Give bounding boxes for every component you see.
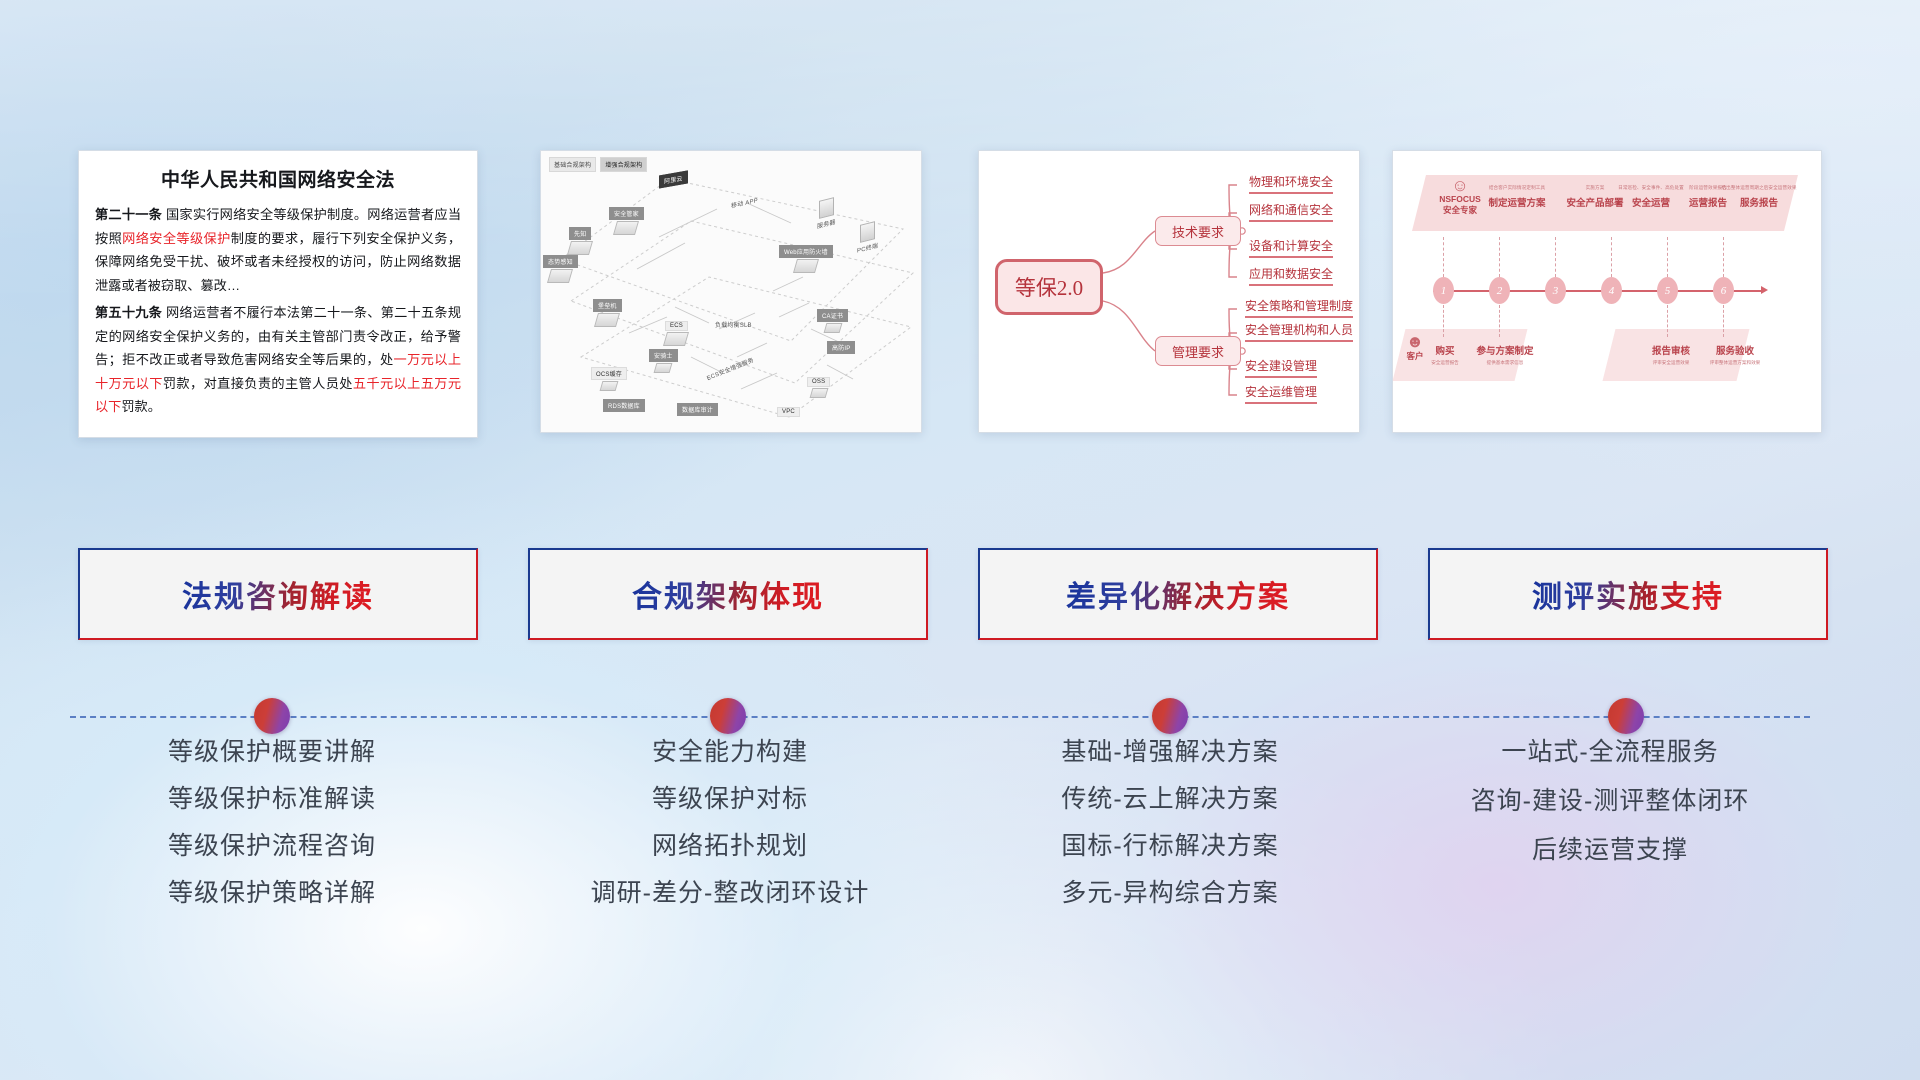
list-item: 国标-行标解决方案 (960, 834, 1380, 859)
card-cybersecurity-law: 中华人民共和国网络安全法 第二十一条 国家实行网络安全等级保护制度。网络运营者应… (78, 150, 478, 438)
arch-node-ecs: ECS (665, 321, 688, 346)
box-icon (613, 221, 639, 235)
arch-node-xianzhi: 先知 (569, 227, 591, 255)
box-icon (823, 323, 842, 333)
timeline-connector (1443, 237, 1444, 277)
list-item: 后续运营支撑 (1400, 838, 1820, 863)
box-icon (793, 259, 819, 273)
timeline-node-5: 5 (1657, 277, 1678, 304)
list-item: 一站式-全流程服务 (1400, 740, 1820, 765)
arch-node-baoleiji: 堡垒机 (593, 299, 622, 327)
article-59-part2: 罚款，对直接负责的主管人员处 (163, 376, 353, 391)
rail-marker-3 (1152, 698, 1188, 734)
title-box-assessment-support[interactable]: 测评实施支持 (1428, 548, 1828, 640)
rail-marker-2 (710, 698, 746, 734)
title-box-row: 法规咨询解读 合规架构体现 差异化解决方案 测评实施支持 (0, 548, 1920, 668)
list-item: 调研-差分-整改闭环设计 (520, 881, 940, 906)
title-label: 法规咨询解读 (182, 572, 374, 616)
architecture-diagram: 基础合规架构 增强合规架构 阿里云 安全管家 先知 态势感知 堡垒机 (541, 151, 921, 432)
arch-node-waf: Web应用防火墙 (779, 245, 833, 273)
arch-node-oss: OSS (807, 377, 830, 398)
box-icon (567, 241, 593, 255)
box-icon (654, 363, 673, 373)
arch-node-anquanguanjia: 安全管家 (609, 207, 644, 235)
mindmap: 等保2.0 技术要求 管理要求 物理和环境安全 网络和通信安全 设备和计算安全 … (979, 151, 1359, 432)
architecture-tab-basic[interactable]: 基础合规架构 (549, 157, 596, 172)
timeline-connector (1499, 237, 1500, 277)
timeline-node-2: 2 (1489, 277, 1510, 304)
list-item: 安全能力构建 (520, 740, 940, 765)
article-21-highlight: 网络安全等级保护 (122, 231, 231, 246)
list-item: 等级保护标准解读 (62, 787, 482, 812)
card-dengbao-mindmap: 等保2.0 技术要求 管理要求 物理和环境安全 网络和通信安全 设备和计算安全 … (978, 150, 1360, 433)
bullet-column-4: 一站式-全流程服务 咨询-建设-测评整体闭环 后续运营支撑 (1400, 740, 1820, 887)
mindmap-leaf-org-personnel: 安全管理机构和人员 (1245, 321, 1353, 342)
box-icon (809, 388, 828, 398)
title-box-compliance-architecture[interactable]: 合规架构体现 (528, 548, 928, 640)
mindmap-root-node: 等保2.0 (995, 259, 1103, 315)
title-label: 合规架构体现 (632, 572, 824, 616)
timeline-node-1: 1 (1433, 277, 1454, 304)
illustration-card-row: 中华人民共和国网络安全法 第二十一条 国家实行网络安全等级保护制度。网络运营者应… (0, 150, 1920, 440)
arch-node-gaofang-ip: 高防IP (827, 341, 855, 354)
timeline-node-4: 4 (1601, 277, 1622, 304)
list-item: 多元-异构综合方案 (960, 881, 1380, 906)
box-icon (594, 313, 620, 327)
bullet-column-3: 基础-增强解决方案 传统-云上解决方案 国标-行标解决方案 多元-异构综合方案 (960, 740, 1380, 928)
architecture-tab-group[interactable]: 基础合规架构 增强合规架构 (549, 157, 647, 172)
law-title: 中华人民共和国网络安全法 (95, 165, 461, 192)
list-item: 等级保护流程咨询 (62, 834, 482, 859)
list-item: 基础-增强解决方案 (960, 740, 1380, 765)
timeline-connector (1555, 237, 1556, 277)
list-item: 等级保护概要讲解 (62, 740, 482, 765)
title-label: 差异化解决方案 (1066, 572, 1290, 616)
timeline-connector (1667, 305, 1668, 337)
card-compliance-architecture: 基础合规架构 增强合规架构 阿里云 安全管家 先知 态势感知 堡垒机 (540, 150, 922, 433)
timeline-top-step-6: 给出整体运营周期之后安全运营效果 服务报告 (1699, 185, 1819, 209)
list-item: 咨询-建设-测评整体闭环 (1400, 789, 1820, 814)
timeline-node-6: 6 (1713, 277, 1734, 304)
timeline-connector (1667, 237, 1668, 277)
article-21-label: 第二十一条 (95, 207, 162, 222)
mindmap-leaf-physical-env: 物理和环境安全 (1249, 173, 1333, 194)
law-text-body: 中华人民共和国网络安全法 第二十一条 国家实行网络安全等级保护制度。网络运营者应… (79, 151, 477, 433)
timeline-connector (1723, 237, 1724, 277)
card-service-timeline: ☺ NSFOCUS 安全专家 结合客户实际情况定制工具 制定运营方案 实施方案 … (1392, 150, 1822, 433)
arch-node-rds: RDS数据库 (603, 399, 645, 412)
list-item: 传统-云上解决方案 (960, 787, 1380, 812)
title-box-differentiated-solution[interactable]: 差异化解决方案 (978, 548, 1378, 640)
timeline-connector (1499, 305, 1500, 337)
mindmap-leaf-network-comm: 网络和通信安全 (1249, 201, 1333, 222)
bullet-column-1: 等级保护概要讲解 等级保护标准解读 等级保护流程咨询 等级保护策略详解 (62, 740, 482, 928)
rail-marker-1 (254, 698, 290, 734)
arch-node-ocs-cache: OCS缓存 (591, 367, 627, 391)
timeline-connector (1723, 305, 1724, 337)
law-article-59: 第五十九条 网络运营者不履行本法第二十一条、第二十五条规定的网络安全保护义务的，… (95, 301, 461, 419)
law-article-21: 第二十一条 国家实行网络安全等级保护制度。网络运营者应当按照网络安全等级保护制度… (95, 203, 461, 297)
arch-node-vpc: VPC (777, 407, 800, 417)
timeline-connector (1443, 305, 1444, 337)
list-item: 网络拓扑规划 (520, 834, 940, 859)
timeline-connector (1611, 237, 1612, 277)
timeline-arrow-icon (1761, 286, 1768, 294)
mindmap-leaf-policy-system: 安全策略和管理制度 (1245, 297, 1353, 318)
arch-node-anqishi: 安骑士 (649, 349, 678, 373)
box-icon (600, 381, 619, 391)
mindmap-branch-management: 管理要求 (1155, 336, 1241, 366)
arch-node-ca-cert: CA证书 (817, 309, 848, 333)
arch-node-taishiganzhi: 态势感知 (543, 255, 578, 283)
timeline-bottom-step-2: 参与方案制定 提供基本需求信息 (1463, 343, 1547, 366)
article-59-label: 第五十九条 (95, 305, 162, 320)
arch-node-slb: 负载均衡SLB (711, 319, 756, 330)
mindmap-leaf-operation-mgmt: 安全运维管理 (1245, 383, 1317, 404)
box-icon (547, 269, 573, 283)
article-59-part3: 罚款。 (121, 399, 161, 414)
list-item: 等级保护对标 (520, 787, 940, 812)
title-box-regulation-consulting[interactable]: 法规咨询解读 (78, 548, 478, 640)
timeline-node-3: 3 (1545, 277, 1566, 304)
mindmap-branch-technical: 技术要求 (1155, 216, 1241, 246)
bullet-column-2: 安全能力构建 等级保护对标 网络拓扑规划 调研-差分-整改闭环设计 (520, 740, 940, 928)
box-icon (663, 332, 689, 346)
rail-marker-4 (1608, 698, 1644, 734)
timeline-bottom-step-6: 服务验收 评审整体运营方案和效果 (1693, 343, 1777, 366)
mindmap-leaf-app-data: 应用和数据安全 (1249, 265, 1333, 286)
arch-node-db-audit: 数据库审计 (677, 403, 718, 416)
mindmap-leaf-construction-mgmt: 安全建设管理 (1245, 357, 1317, 378)
service-timeline: ☺ NSFOCUS 安全专家 结合客户实际情况定制工具 制定运营方案 实施方案 … (1393, 151, 1821, 432)
title-label: 测评实施支持 (1532, 572, 1724, 616)
dashed-rail-line (70, 716, 1810, 718)
mindmap-leaf-device-compute: 设备和计算安全 (1249, 237, 1333, 258)
list-item: 等级保护策略详解 (62, 881, 482, 906)
bullet-column-row: 等级保护概要讲解 等级保护标准解读 等级保护流程咨询 等级保护策略详解 安全能力… (0, 740, 1920, 1020)
architecture-tab-enhanced[interactable]: 增强合规架构 (600, 157, 647, 172)
